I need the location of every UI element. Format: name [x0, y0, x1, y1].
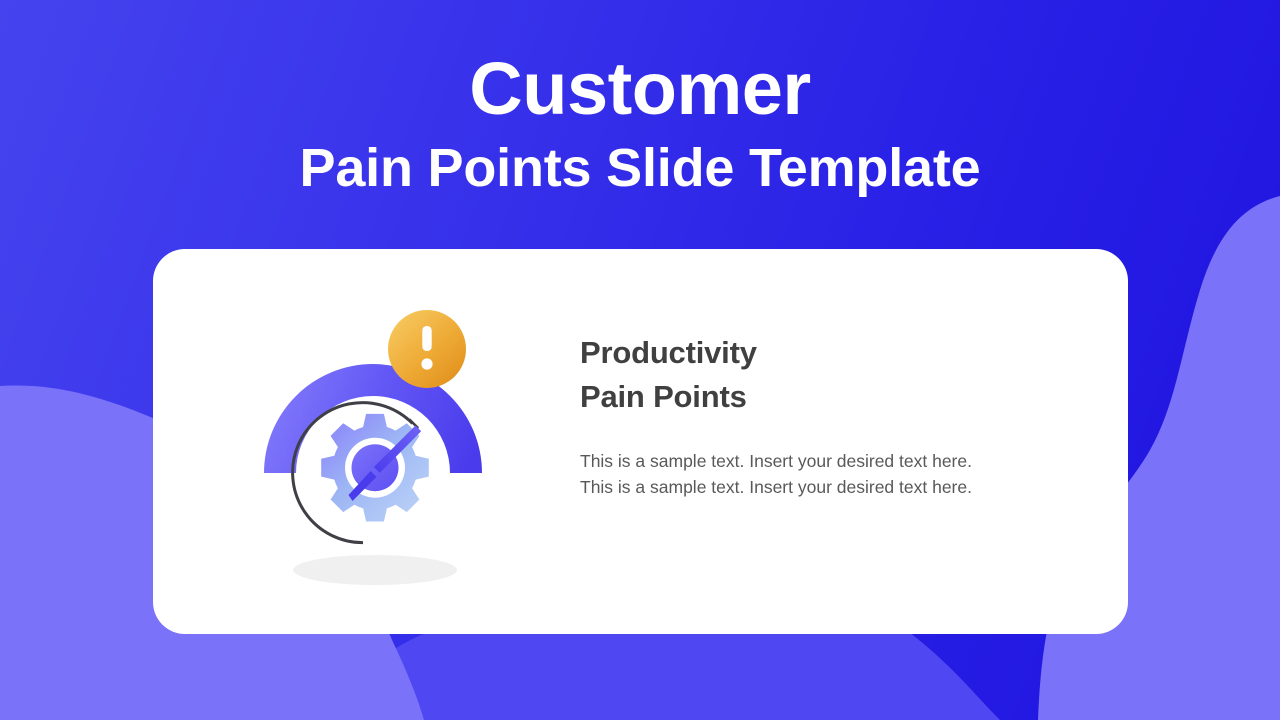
illustration-container	[253, 291, 513, 591]
alert-badge	[388, 310, 466, 388]
card-text-block: Productivity Pain Points This is a sampl…	[580, 331, 1010, 501]
card-heading: Productivity Pain Points	[580, 331, 1010, 419]
alert-exclamation-dot	[421, 358, 432, 369]
card-body-text: This is a sample text. Insert your desir…	[580, 419, 1000, 501]
alert-exclamation-stem	[422, 326, 431, 351]
title-line-2: Pain Points Slide Template	[0, 140, 1280, 197]
card-heading-line-1: Productivity	[580, 335, 757, 370]
title-line-1: Customer	[0, 52, 1280, 126]
slide-title: Customer Pain Points Slide Template	[0, 52, 1280, 197]
slide-canvas: Customer Pain Points Slide Template	[0, 0, 1280, 720]
ground-shadow-ellipse	[293, 555, 457, 585]
gauge-illustration	[253, 291, 513, 591]
card-heading-line-2: Pain Points	[580, 379, 747, 414]
content-card: Productivity Pain Points This is a sampl…	[153, 249, 1128, 634]
